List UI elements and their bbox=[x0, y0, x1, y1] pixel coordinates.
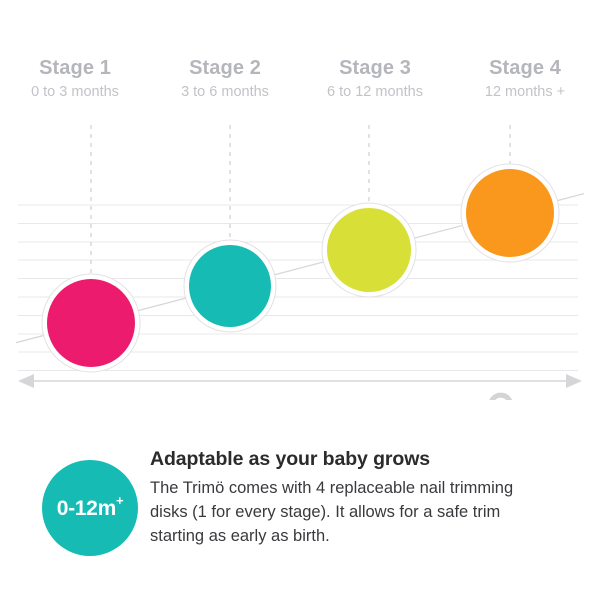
stage-labels-row: Stage 1 0 to 3 months Stage 2 3 to 6 mon… bbox=[0, 58, 600, 120]
growth-axis-arrow bbox=[18, 374, 582, 388]
age-range-badge-label: 0-12m+ bbox=[57, 495, 124, 521]
age-range-badge-value: 0-12m bbox=[57, 497, 116, 520]
info-heading: Adaptable as your baby grows bbox=[150, 448, 570, 471]
stage-label-1: Stage 1 0 to 3 months bbox=[0, 58, 150, 120]
stage-range-3: 6 to 12 months bbox=[300, 85, 450, 100]
stage-label-3: Stage 3 6 to 12 months bbox=[300, 58, 450, 120]
stage-label-4: Stage 4 12 months + bbox=[450, 58, 600, 120]
stage-connector-lines bbox=[91, 125, 510, 274]
stage-range-1: 0 to 3 months bbox=[0, 85, 150, 100]
stage-label-2: Stage 2 3 to 6 months bbox=[150, 58, 300, 120]
stage-range-4: 12 months + bbox=[450, 85, 600, 100]
stage-range-2: 3 to 6 months bbox=[150, 85, 300, 100]
growth-chart-svg bbox=[0, 120, 600, 400]
stage-title-1: Stage 1 bbox=[0, 58, 150, 78]
stage-bubble-4[interactable] bbox=[466, 169, 554, 257]
age-range-badge-plus: + bbox=[116, 493, 123, 508]
stage-bubble-2[interactable] bbox=[189, 245, 271, 327]
infographic-root: Stage 1 0 to 3 months Stage 2 3 to 6 mon… bbox=[0, 0, 600, 600]
stage-title-2: Stage 2 bbox=[150, 58, 300, 78]
info-body: The Trimö comes with 4 replaceable nail … bbox=[150, 477, 550, 549]
stage-title-4: Stage 4 bbox=[450, 58, 600, 78]
age-range-badge: 0-12m+ bbox=[42, 460, 138, 556]
stage-bubble-3[interactable] bbox=[327, 208, 411, 292]
stage-title-3: Stage 3 bbox=[300, 58, 450, 78]
info-text-group: Adaptable as your baby grows The Trimö c… bbox=[150, 448, 570, 549]
growth-chart bbox=[0, 120, 600, 400]
crawling-baby-icon bbox=[412, 395, 511, 400]
stage-bubble-1[interactable] bbox=[47, 279, 135, 367]
